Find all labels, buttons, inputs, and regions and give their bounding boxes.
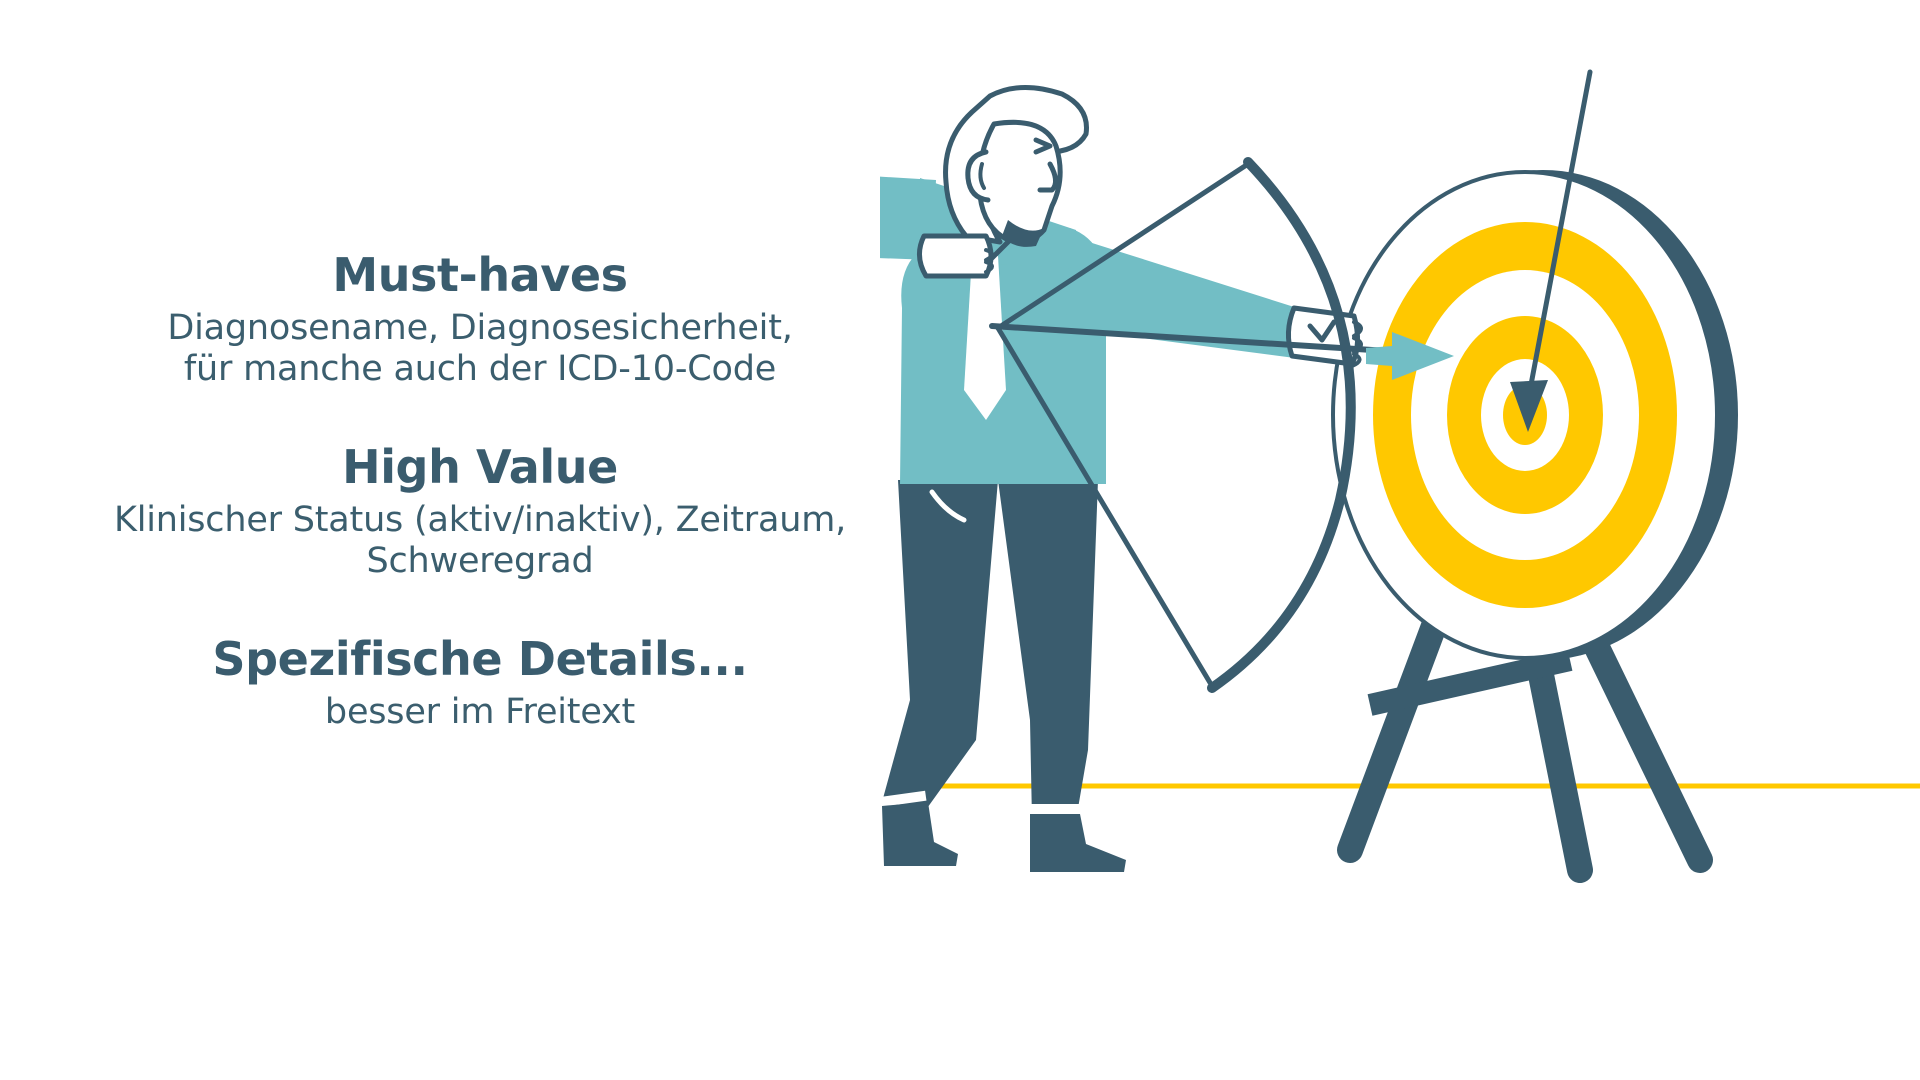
archer-leg-back <box>882 480 998 818</box>
archer-face <box>979 122 1060 241</box>
text-block-spezifische-details: Spezifische Details... besser im Freitex… <box>40 634 920 733</box>
block-line: besser im Freitext <box>40 692 920 733</box>
archer-illustration <box>880 60 1920 940</box>
text-block-high-value: High Value Klinischer Status (aktiv/inak… <box>40 442 920 582</box>
archer-shoe-front <box>1030 814 1126 872</box>
archer-hand-drawing <box>919 236 992 276</box>
block-heading-must-haves: Must-haves <box>40 250 920 302</box>
block-line: Diagnosename, Diagnosesicherheit, <box>40 308 920 349</box>
bow <box>1212 162 1351 688</box>
block-line: Schweregrad <box>40 541 920 582</box>
archer-ear <box>968 152 988 200</box>
archer-leg-front <box>998 480 1098 820</box>
archer-sock-front <box>1030 804 1080 814</box>
block-body-must-haves: Diagnosename, Diagnosesicherheit, für ma… <box>40 308 920 391</box>
slide-canvas: Must-haves Diagnosename, Diagnosesicherh… <box>0 0 1920 1080</box>
block-line: Klinischer Status (aktiv/inaktiv), Zeitr… <box>40 500 920 541</box>
text-column: Must-haves Diagnosename, Diagnosesicherh… <box>40 250 920 733</box>
block-body-high-value: Klinischer Status (aktiv/inaktiv), Zeitr… <box>40 500 920 583</box>
block-heading-spezifische-details: Spezifische Details... <box>40 634 920 686</box>
text-block-must-haves: Must-haves Diagnosename, Diagnosesicherh… <box>40 250 920 390</box>
block-heading-high-value: High Value <box>40 442 920 494</box>
block-body-spezifische-details: besser im Freitext <box>40 692 920 733</box>
block-line: für manche auch der ICD-10-Code <box>40 349 920 390</box>
archer-shoe-back <box>882 802 958 866</box>
archery-target <box>1333 170 1738 660</box>
